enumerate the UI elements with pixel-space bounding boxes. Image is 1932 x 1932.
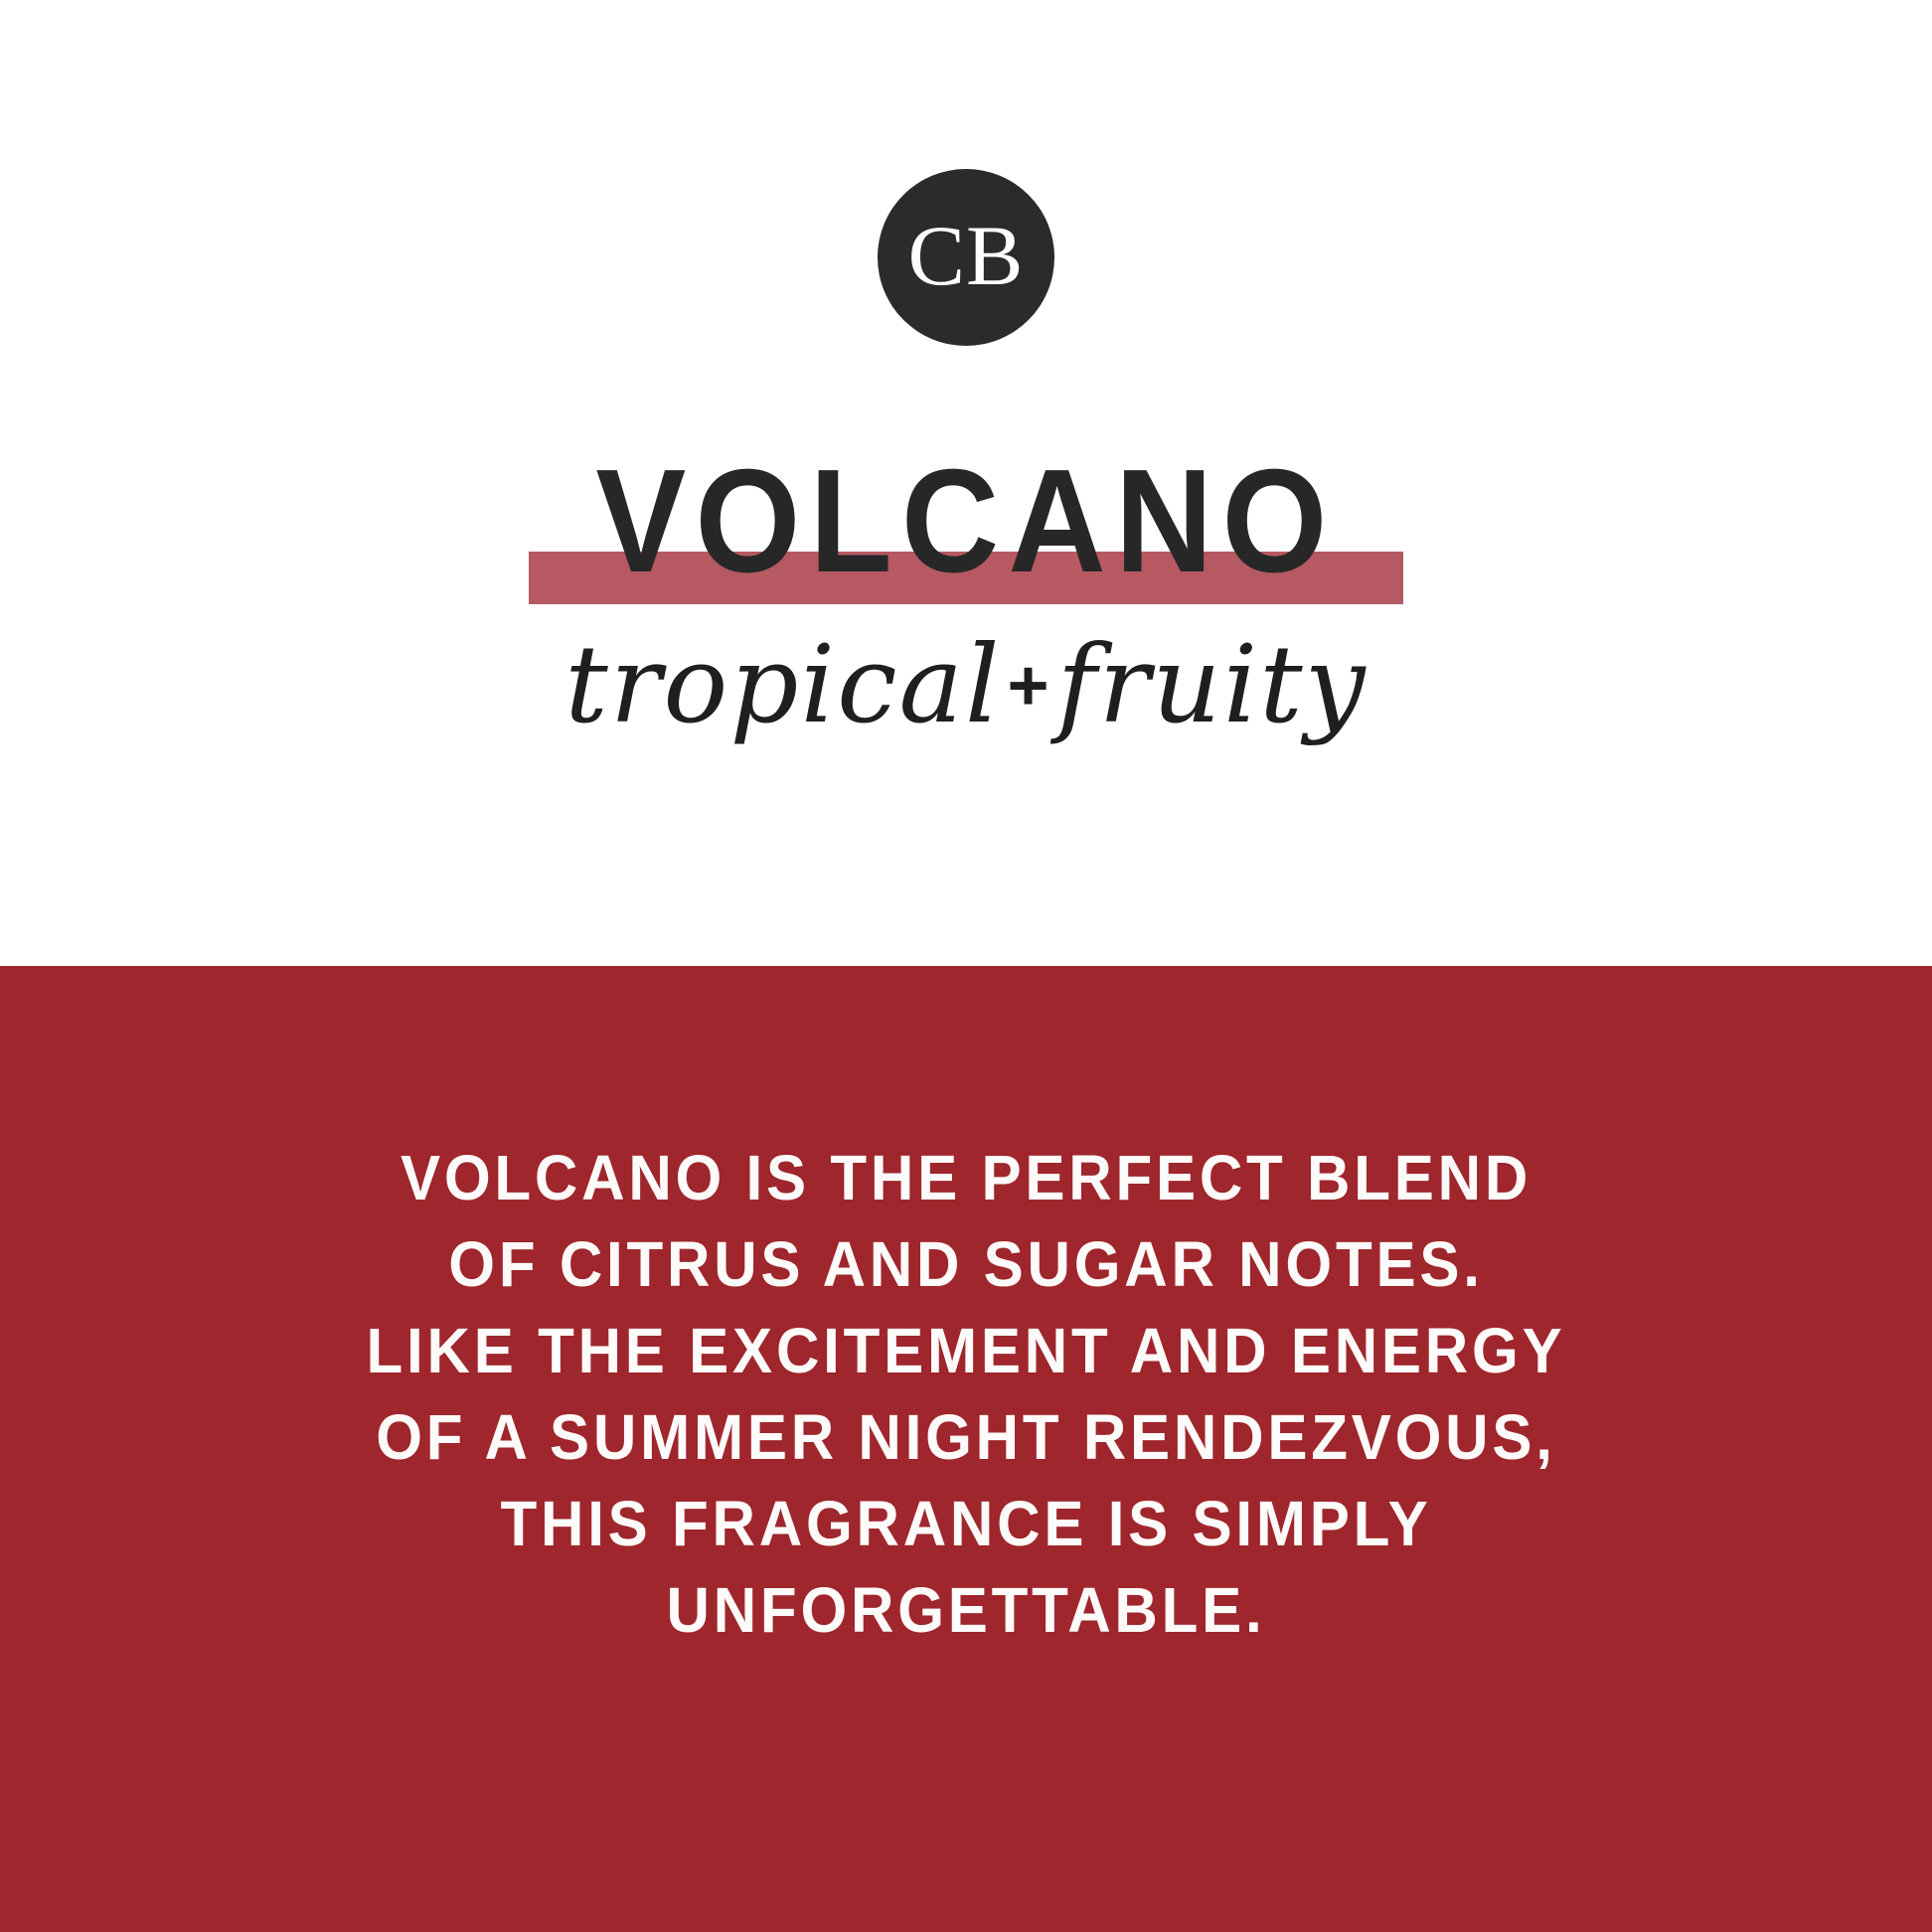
tagline-plus-separator: + xyxy=(1001,646,1056,725)
description-line: UNFORGETTABLE. xyxy=(58,1567,1873,1654)
top-white-panel: CB VOLCANO tropical+fruity xyxy=(0,0,1932,966)
description-line: VOLCANO IS THE PERFECT BLEND xyxy=(58,1135,1873,1221)
product-title: VOLCANO xyxy=(78,447,1854,597)
description-line: LIKE THE EXCITEMENT AND ENERGY xyxy=(58,1308,1873,1394)
tagline-first-word: tropical xyxy=(564,623,1001,747)
tagline-second-word: fruity xyxy=(1057,623,1368,747)
brand-logo-badge: CB xyxy=(878,169,1054,346)
scent-tagline: tropical+fruity xyxy=(0,624,1932,747)
description-line: THIS FRAGRANCE IS SIMPLY xyxy=(58,1481,1873,1567)
brand-monogram-text: CB xyxy=(908,213,1025,298)
product-title-block: VOLCANO xyxy=(0,447,1932,616)
product-fragrance-card: CB VOLCANO tropical+fruity VOLCANO IS TH… xyxy=(0,0,1932,1932)
product-description: VOLCANO IS THE PERFECT BLEND OF CITRUS A… xyxy=(0,1135,1932,1654)
description-line: OF CITRUS AND SUGAR NOTES. xyxy=(58,1221,1873,1308)
bottom-red-panel: VOLCANO IS THE PERFECT BLEND OF CITRUS A… xyxy=(0,966,1932,1932)
description-line: OF A SUMMER NIGHT RENDEZVOUS, xyxy=(58,1394,1873,1481)
